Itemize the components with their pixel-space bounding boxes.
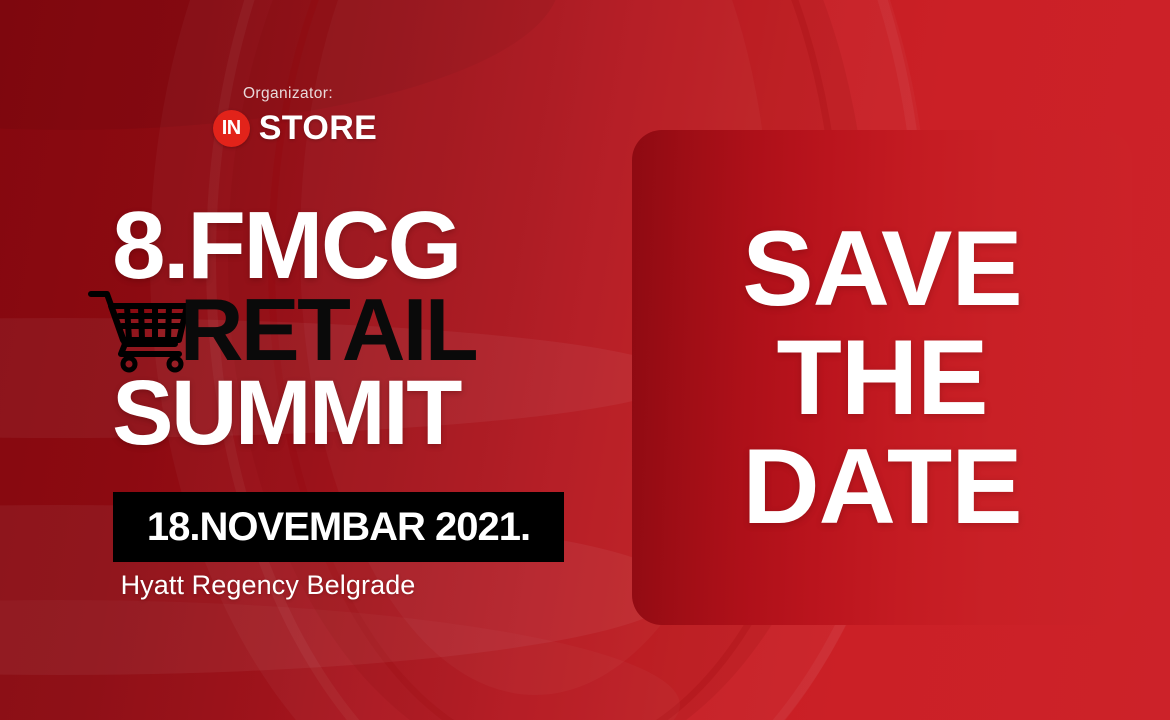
instore-logo: IN STORE xyxy=(0,110,620,147)
promo-banner: Organizator: IN STORE 8.FMCG xyxy=(0,0,1170,720)
event-date: 18.NOVEMBAR 2021. xyxy=(147,507,530,547)
title-line-3: SUMMIT xyxy=(0,374,620,453)
title-line-1: 8.FMCG xyxy=(0,205,620,288)
event-date-band: 18.NOVEMBAR 2021. xyxy=(113,492,564,562)
event-venue: Hyatt Regency Belgrade xyxy=(0,570,578,601)
event-title-block: 8.FMCG RETAIL xyxy=(0,205,620,453)
left-content-column: Organizator: IN STORE 8.FMCG xyxy=(0,0,620,720)
title-line-2-row: RETAIL xyxy=(0,290,620,370)
save-the-date-line-2: THE xyxy=(777,323,988,432)
save-the-date-line-3: DATE xyxy=(742,432,1021,541)
save-the-date-panel: SAVE THE DATE xyxy=(632,130,1132,625)
save-the-date-line-1: SAVE xyxy=(742,214,1021,323)
organizer-block: Organizator: IN STORE xyxy=(0,86,620,147)
instore-logo-word: STORE xyxy=(259,111,378,145)
organizer-label: Organizator: xyxy=(0,86,620,102)
title-line-2: RETAIL xyxy=(0,292,620,368)
instore-badge-icon: IN xyxy=(213,110,250,147)
